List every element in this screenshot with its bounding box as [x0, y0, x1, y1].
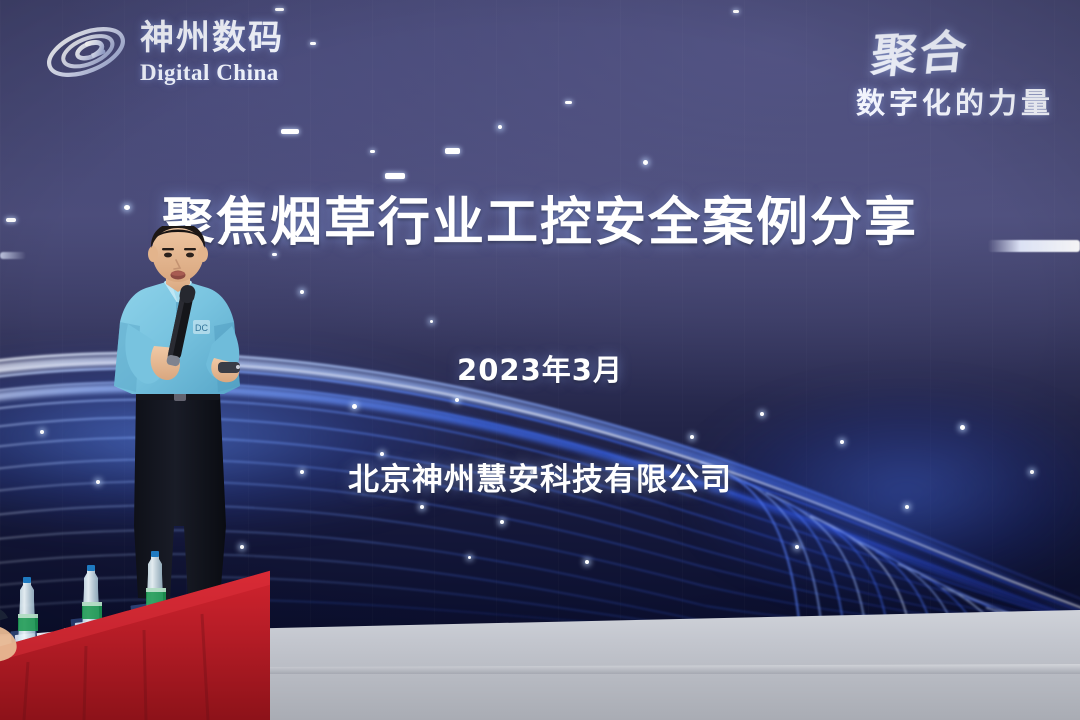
event-logo-calligraphy: 聚合: [868, 16, 972, 87]
svg-text:DC: DC: [195, 323, 208, 333]
brand-name-cn: 神州数码: [140, 21, 284, 55]
digital-china-logo: 神州数码 Digital China: [44, 16, 284, 88]
conference-photo: 神州数码 Digital China 聚合 数字化的力量 聚焦烟草行业工控安全案…: [0, 0, 1080, 720]
event-logo: 聚合 数字化的力量: [856, 18, 1054, 122]
water-bottle: [18, 577, 38, 646]
speaker-shirt-logo: DC: [193, 320, 210, 334]
foreground-head-table: [0, 530, 270, 720]
digital-china-swoosh-icon: [44, 16, 128, 88]
event-logo-tagline: 数字化的力量: [856, 80, 1054, 122]
brand-name-en: Digital China: [140, 61, 284, 84]
